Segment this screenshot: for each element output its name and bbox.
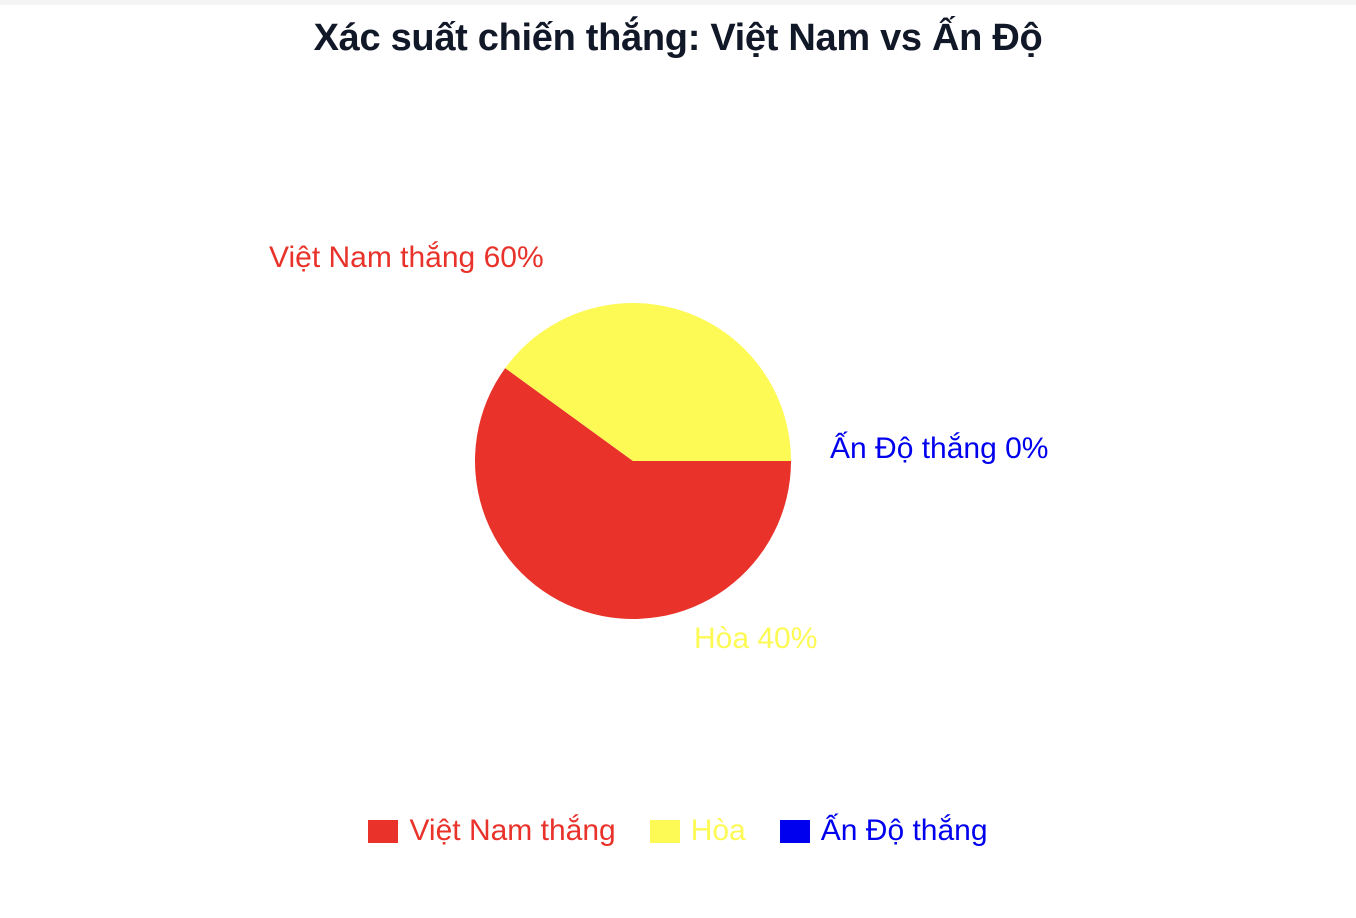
legend-label-draw: Hòa <box>691 816 746 846</box>
legend-swatch-icon-vietnam <box>368 820 398 843</box>
chart-legend: Việt Nam thắng Hòa Ấn Độ thắng <box>0 816 1356 846</box>
legend-swatch-icon-india <box>780 820 810 843</box>
pie-label-vietnam: Việt Nam thắng 60% <box>269 243 544 273</box>
legend-label-india: Ấn Độ thắng <box>821 816 988 846</box>
legend-swatch-icon-draw <box>650 820 680 843</box>
pie-chart[interactable]: Việt Nam thắng 60% Ấn Độ thắng 0% Hòa 40… <box>0 0 1356 918</box>
legend-item-vietnam[interactable]: Việt Nam thắng <box>368 816 615 846</box>
pie-chart-svg <box>0 0 1356 918</box>
pie-label-india: Ấn Độ thắng 0% <box>830 434 1048 464</box>
legend-label-vietnam: Việt Nam thắng <box>409 816 615 846</box>
pie-label-draw: Hòa 40% <box>694 624 817 654</box>
legend-item-draw[interactable]: Hòa <box>650 816 746 846</box>
legend-item-india[interactable]: Ấn Độ thắng <box>780 816 988 846</box>
